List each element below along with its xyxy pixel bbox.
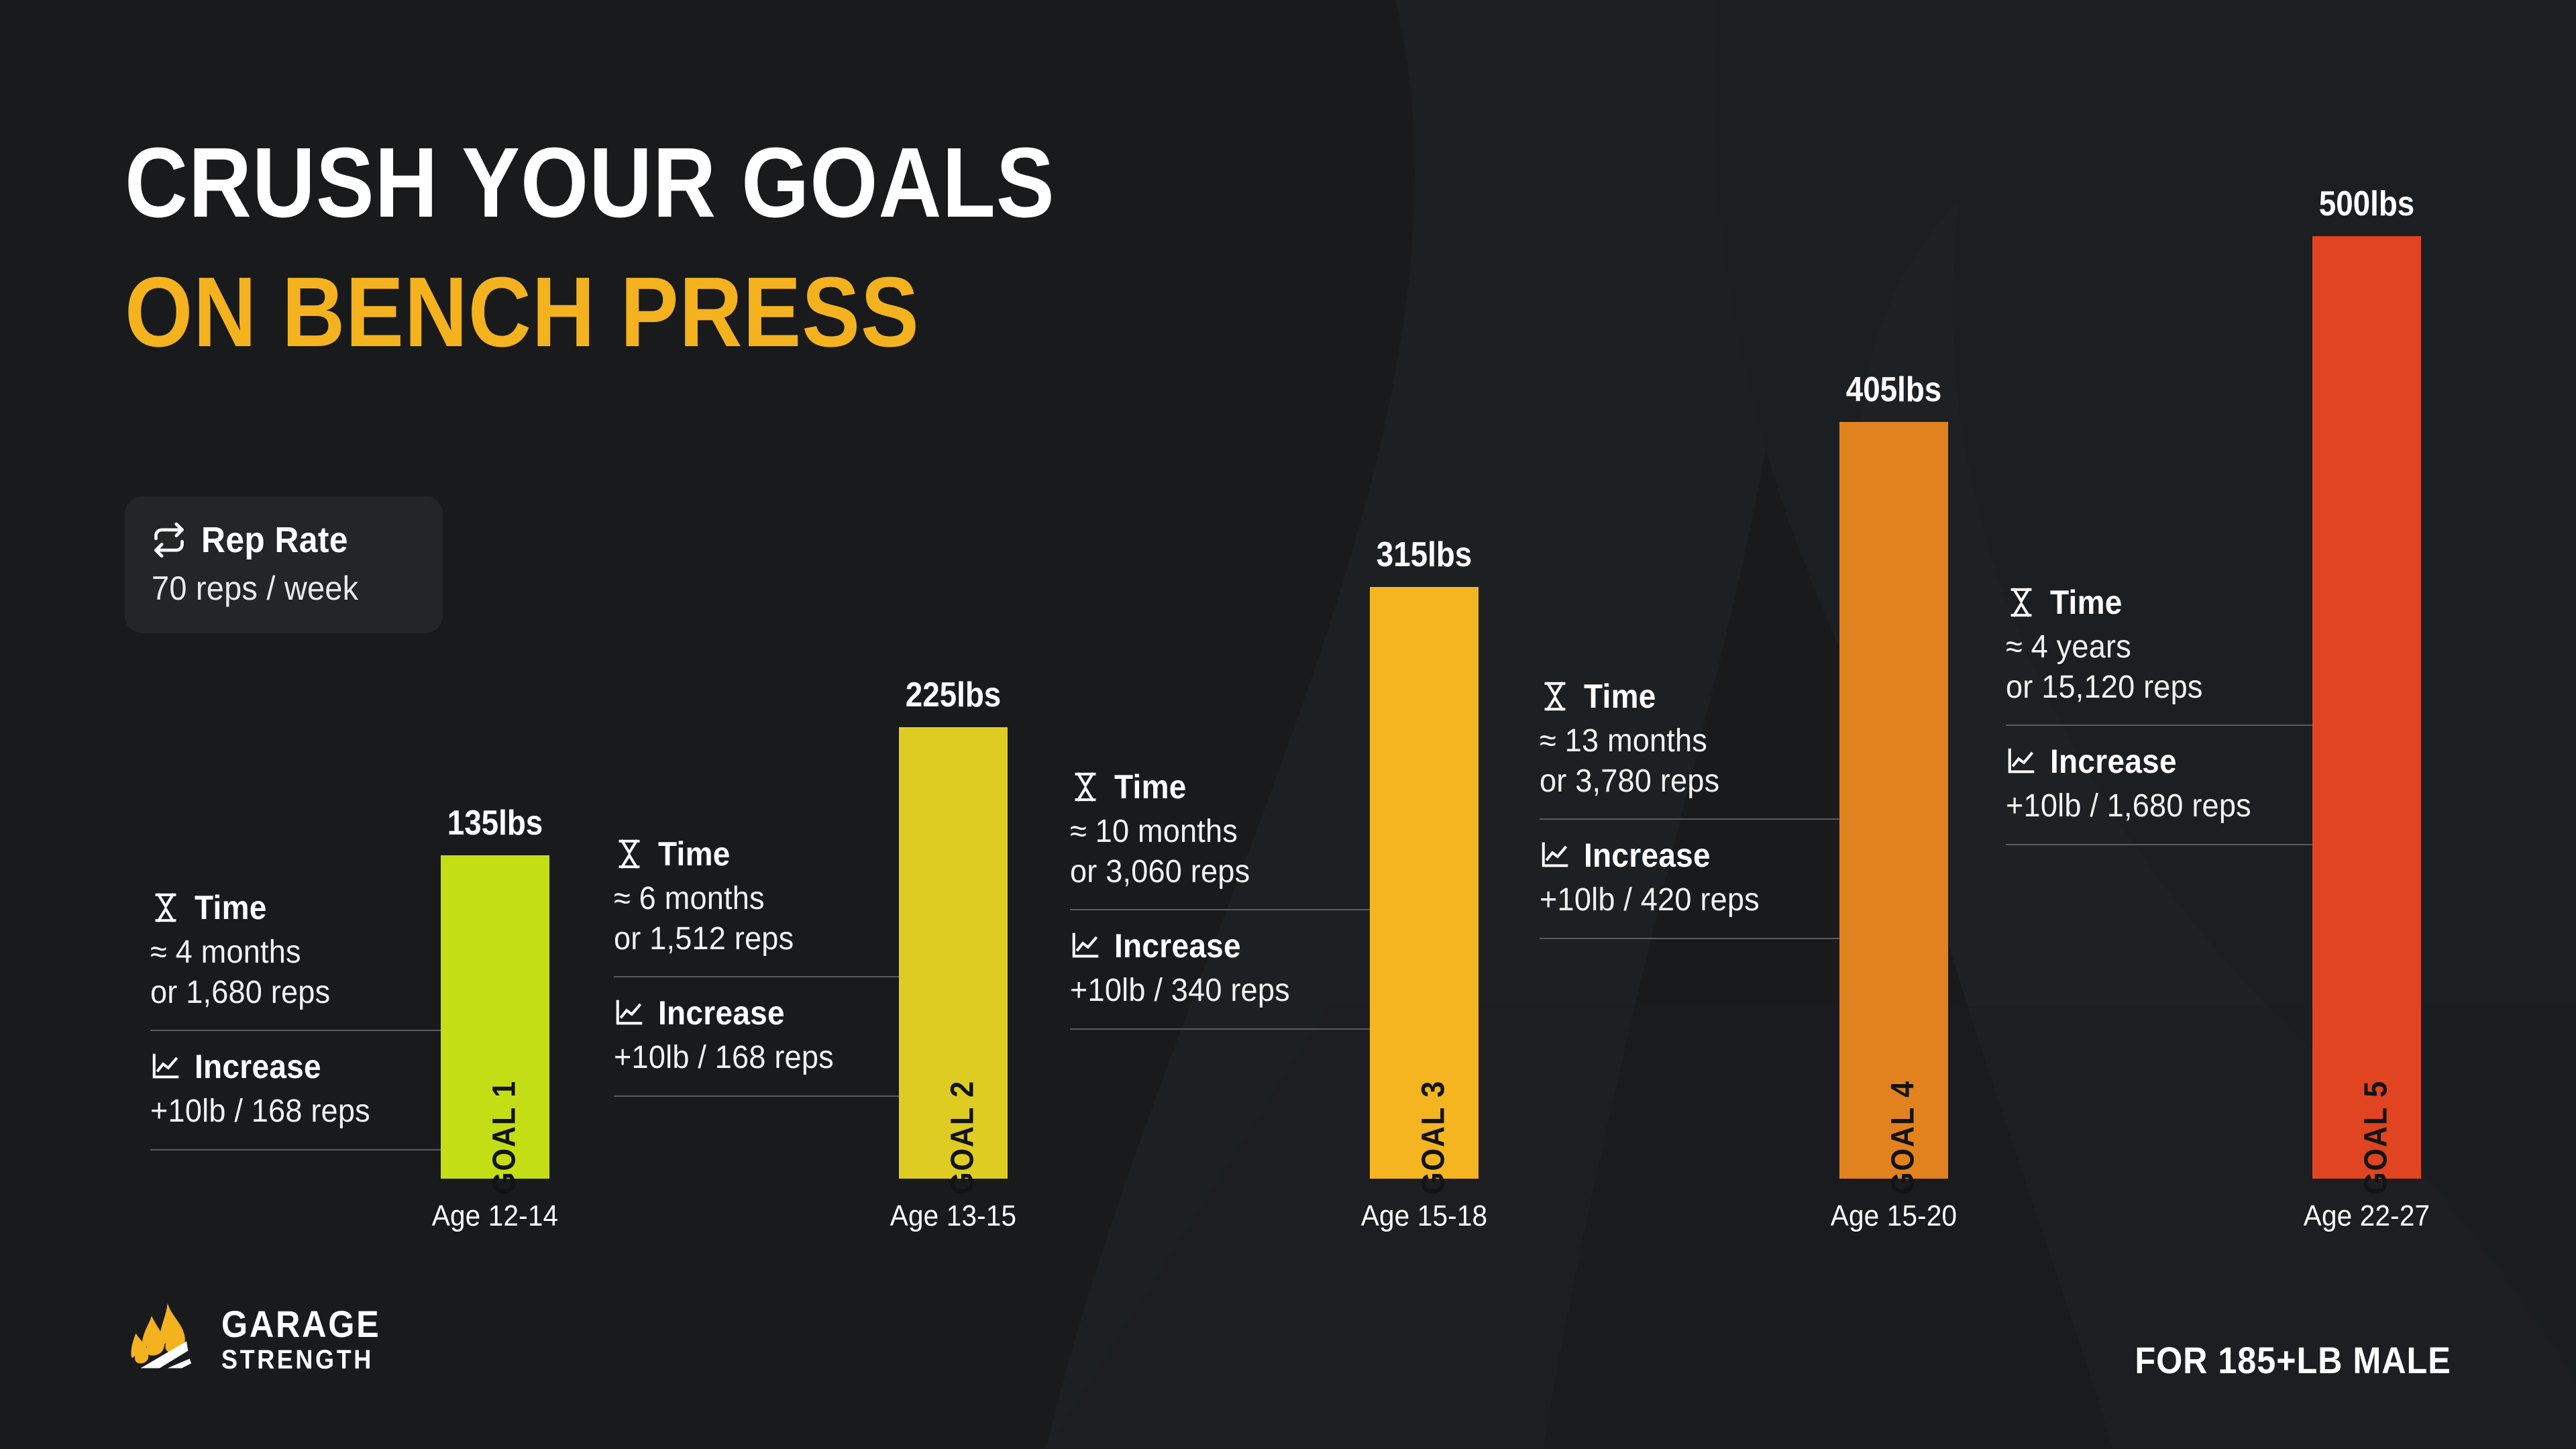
bar-value-label: 135lbs — [400, 803, 590, 843]
flame-logo-icon — [125, 1300, 204, 1379]
goal-info-block: Time≈ 10 monthsor 3,060 repsIncrease+10l… — [1070, 751, 1370, 1030]
time-header: Time — [2006, 583, 2312, 622]
line-chart-icon — [1070, 930, 1101, 961]
repeat-icon — [152, 523, 186, 557]
increase-label: Increase — [2050, 742, 2177, 781]
bar-value-label: 500lbs — [2272, 184, 2461, 224]
bar-goal-name: GOAL 3 — [1370, 1119, 1479, 1156]
line-chart-icon — [614, 998, 645, 1028]
time-duration: ≈ 4 years — [2006, 627, 2294, 667]
time-reps: or 3,060 reps — [1070, 852, 1352, 892]
increase-header: Increase — [614, 994, 899, 1032]
info-divider-bottom — [614, 1095, 899, 1097]
increase-section: Increase+10lb / 168 reps — [150, 1031, 441, 1149]
time-section: Time≈ 4 monthsor 1,680 reps — [150, 872, 441, 1030]
hourglass-icon — [2006, 587, 2037, 618]
time-label: Time — [658, 835, 731, 873]
hourglass-icon — [1540, 681, 1570, 712]
goal-column: 315lbsGOAL 3Age 15-18 — [1370, 0, 1479, 1449]
increase-section: Increase+10lb / 168 reps — [614, 977, 899, 1095]
increase-section: Increase+10lb / 420 reps — [1540, 820, 1839, 938]
bar-rect[interactable] — [2312, 236, 2421, 1179]
page-title: CRUSH YOUR GOALS ON BENCH PRESS — [125, 134, 1182, 361]
increase-header: Increase — [1070, 926, 1370, 965]
goal-info-block: Time≈ 4 monthsor 1,680 repsIncrease+10lb… — [150, 872, 441, 1150]
info-divider-bottom — [2006, 844, 2312, 845]
time-header: Time — [150, 888, 441, 927]
time-header: Time — [614, 835, 899, 873]
info-divider-bottom — [1540, 938, 1839, 939]
hourglass-icon — [150, 892, 181, 923]
goal-column: 500lbsGOAL 5Age 22-27 — [2312, 0, 2421, 1449]
increase-value: +10lb / 420 reps — [1540, 880, 1821, 920]
increase-section: Increase+10lb / 340 reps — [1070, 910, 1370, 1028]
increase-header: Increase — [150, 1047, 441, 1086]
goal-column: 225lbsGOAL 2Age 13-15 — [899, 0, 1008, 1449]
line-chart-icon — [2006, 746, 2037, 777]
bar-age-label: Age 22-27 — [2268, 1199, 2465, 1233]
bar-goal-name: GOAL 1 — [441, 1119, 549, 1156]
logo-line-2: STRENGTH — [221, 1348, 380, 1373]
bar-value-label: 225lbs — [859, 675, 1048, 715]
increase-label: Increase — [195, 1047, 321, 1086]
time-duration: ≈ 13 months — [1540, 721, 1821, 761]
time-section: Time≈ 10 monthsor 3,060 reps — [1070, 751, 1370, 909]
time-header: Time — [1540, 677, 1839, 716]
increase-value: +10lb / 340 reps — [1070, 971, 1352, 1011]
brand-logo-text: GARAGE STRENGTH — [221, 1307, 398, 1373]
infographic-canvas: CRUSH YOUR GOALS ON BENCH PRESS Rep Rate… — [0, 0, 2576, 1449]
footer-note: FOR 185+LB MALE — [2135, 1338, 2451, 1382]
time-reps: or 15,120 reps — [2006, 667, 2294, 708]
increase-header: Increase — [1540, 836, 1839, 875]
increase-value: +10lb / 168 reps — [150, 1091, 423, 1132]
increase-header: Increase — [2006, 742, 2312, 781]
time-reps: or 1,680 reps — [150, 973, 423, 1013]
bar-value-label: 405lbs — [1799, 370, 1988, 410]
time-reps: or 3,780 reps — [1540, 761, 1821, 802]
bar-goal-name: GOAL 5 — [2312, 1119, 2421, 1156]
line-chart-icon — [150, 1051, 181, 1082]
goal-info-block: Time≈ 6 monthsor 1,512 repsIncrease+10lb… — [614, 818, 899, 1097]
rep-rate-value: 70 reps / week — [152, 569, 400, 608]
increase-value: +10lb / 168 reps — [614, 1038, 882, 1078]
info-divider-bottom — [150, 1149, 441, 1150]
time-label: Time — [1584, 677, 1656, 716]
time-section: Time≈ 6 monthsor 1,512 reps — [614, 818, 899, 976]
goal-column: 135lbsGOAL 1Age 12-14 — [441, 0, 549, 1449]
time-duration: ≈ 4 months — [150, 932, 423, 973]
bar-age-label: Age 12-14 — [396, 1199, 594, 1233]
rep-rate-header: Rep Rate — [152, 519, 416, 561]
goal-info-block: Time≈ 13 monthsor 3,780 repsIncrease+10l… — [1540, 661, 1839, 939]
logo-line-1: GARAGE — [221, 1307, 380, 1342]
goal-column: 405lbsGOAL 4Age 15-20 — [1839, 0, 1948, 1449]
rep-rate-label: Rep Rate — [201, 519, 348, 561]
increase-label: Increase — [658, 994, 785, 1032]
increase-label: Increase — [1584, 836, 1711, 875]
bar-age-label: Age 15-18 — [1326, 1199, 1523, 1233]
time-label: Time — [2050, 583, 2123, 622]
bar-rect[interactable] — [1839, 422, 1948, 1179]
bar-age-label: Age 13-15 — [855, 1199, 1052, 1233]
time-label: Time — [1114, 767, 1187, 806]
time-duration: ≈ 10 months — [1070, 812, 1352, 852]
hourglass-icon — [1070, 771, 1101, 802]
increase-label: Increase — [1114, 926, 1241, 965]
time-reps: or 1,512 reps — [614, 919, 882, 959]
time-label: Time — [195, 888, 267, 927]
goal-info-block: Time≈ 4 yearsor 15,120 repsIncrease+10lb… — [2006, 567, 2312, 845]
time-header: Time — [1070, 767, 1370, 806]
line-chart-icon — [1540, 840, 1570, 871]
time-duration: ≈ 6 months — [614, 879, 882, 919]
bar-age-label: Age 15-20 — [1795, 1199, 1992, 1233]
increase-section: Increase+10lb / 1,680 reps — [2006, 726, 2312, 844]
info-divider-bottom — [1070, 1028, 1370, 1030]
hourglass-icon — [614, 839, 645, 869]
brand-logo: GARAGE STRENGTH — [125, 1300, 398, 1379]
time-section: Time≈ 4 yearsor 15,120 reps — [2006, 567, 2312, 724]
rep-rate-card: Rep Rate 70 reps / week — [125, 496, 443, 633]
bar-value-label: 315lbs — [1330, 535, 1519, 575]
bar-goal-name: GOAL 4 — [1839, 1119, 1948, 1156]
bar-goal-name: GOAL 2 — [899, 1119, 1008, 1156]
time-section: Time≈ 13 monthsor 3,780 reps — [1540, 661, 1839, 818]
increase-value: +10lb / 1,680 reps — [2006, 786, 2294, 826]
